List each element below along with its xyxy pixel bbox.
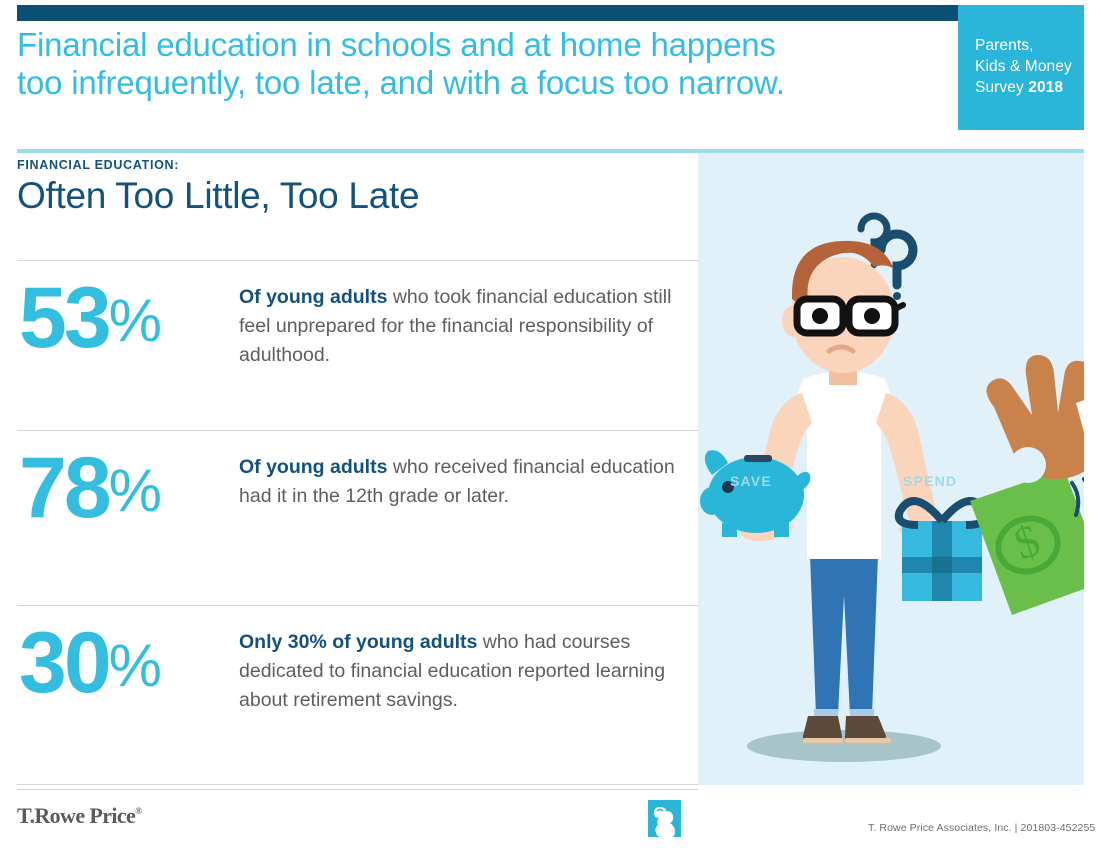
stat-lead: Of young adults <box>239 456 387 478</box>
stat-description: Only 30% of young adults who had courses… <box>239 620 698 715</box>
stat-number: 30 <box>19 615 109 711</box>
percent-icon: % <box>109 457 160 524</box>
tshirt <box>793 371 895 559</box>
eye-right <box>864 308 880 324</box>
survey-badge-label: Survey <box>975 79 1028 96</box>
ground-shadow <box>747 730 941 762</box>
top-accent-bar <box>17 5 1084 21</box>
wordmark-text: T.Rowe Price <box>17 803 135 828</box>
glasses-icon <box>797 299 903 333</box>
stat-value: 53% <box>17 275 239 364</box>
footer-divider <box>17 789 698 790</box>
infographic-page: Financial education in schools and at ho… <box>0 0 1101 851</box>
headline-line-1: Financial education in schools and at ho… <box>17 26 917 64</box>
stat-lead: Only 30% of young adults <box>239 631 477 653</box>
eye-left <box>812 308 828 324</box>
stat-row: 78% Of young adults who received financi… <box>17 430 698 605</box>
stat-row: 30% Only 30% of young adults who had cou… <box>17 605 698 785</box>
legal-fineprint: T. Rowe Price Associates, Inc. | 201803-… <box>868 822 1095 834</box>
bighorn-sheep-logo-icon <box>648 800 681 837</box>
survey-badge-line-1: Parents, <box>975 35 1084 56</box>
stat-description: Of young adults who received financial e… <box>239 445 698 511</box>
survey-badge-line-2: Kids & Money <box>975 56 1084 77</box>
survey-badge-line-3: Survey 2018 <box>975 77 1084 98</box>
stat-value: 78% <box>17 445 239 534</box>
registered-mark: ® <box>135 806 141 816</box>
page-headline: Financial education in schools and at ho… <box>17 26 917 102</box>
save-spend-illustration: $ <box>698 153 1084 785</box>
statistics-list: 53% Of young adults who took financial e… <box>17 260 698 785</box>
shoe-soles <box>803 738 891 743</box>
stat-row: 53% Of young adults who took financial e… <box>17 260 698 430</box>
stat-number: 78 <box>19 440 109 536</box>
hand-grip-gap <box>1010 447 1046 483</box>
stat-description: Of young adults who took financial educa… <box>239 275 698 370</box>
stat-value: 30% <box>17 620 239 709</box>
stat-lead: Of young adults <box>239 286 387 308</box>
headline-line-2: too infrequently, too late, and with a f… <box>17 64 917 102</box>
label-spend: SPEND <box>903 473 957 489</box>
dollar-bill-icon: $ <box>970 469 1084 615</box>
section-eyebrow: FINANCIAL EDUCATION: <box>17 158 179 172</box>
survey-badge-year: 2018 <box>1028 79 1063 96</box>
illustration-panel: $ SAVE SPEND <box>698 153 1084 785</box>
trowe-price-wordmark: T.Rowe Price® <box>17 803 141 829</box>
survey-badge: Parents, Kids & Money Survey 2018 <box>958 5 1084 130</box>
percent-icon: % <box>109 632 160 699</box>
stat-number: 53 <box>19 270 109 366</box>
page-title: Often Too Little, Too Late <box>17 175 419 217</box>
question-mark-dot-icon <box>893 292 901 300</box>
legs <box>810 543 878 719</box>
percent-icon: % <box>109 287 160 354</box>
label-save: SAVE <box>730 473 772 489</box>
